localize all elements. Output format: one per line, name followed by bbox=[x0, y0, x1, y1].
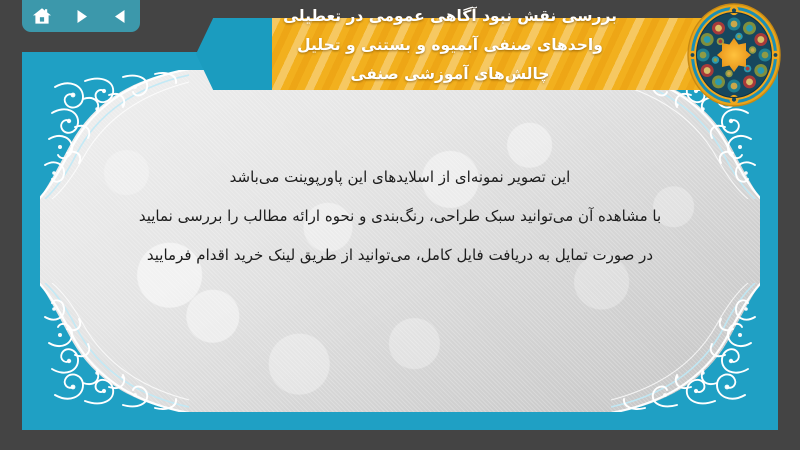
slide-viewer: این تصویر نمونه‌ای از اسلایدهای این پاور… bbox=[0, 0, 800, 450]
body-line-2: با مشاهده آن می‌توانید سبک طراحی، رنگ‌بن… bbox=[80, 197, 720, 236]
slide-frame: این تصویر نمونه‌ای از اسلایدهای این پاور… bbox=[22, 52, 778, 430]
home-icon bbox=[32, 7, 52, 25]
corner-ornament-bottom-right bbox=[611, 283, 760, 412]
forward-arrow-icon bbox=[73, 8, 90, 25]
medallion-ornament bbox=[686, 2, 782, 108]
back-arrow-icon bbox=[112, 8, 129, 25]
back-button[interactable] bbox=[105, 3, 135, 29]
body-line-3: در صورت تمایل به دریافت فایل کامل، می‌تو… bbox=[80, 236, 720, 275]
forward-button[interactable] bbox=[66, 3, 96, 29]
slide-body-text: این تصویر نمونه‌ای از اسلایدهای این پاور… bbox=[80, 158, 720, 275]
corner-ornament-bottom-left bbox=[40, 283, 189, 412]
body-line-1: این تصویر نمونه‌ای از اسلایدهای این پاور… bbox=[80, 158, 720, 197]
slide-content-panel: این تصویر نمونه‌ای از اسلایدهای این پاور… bbox=[40, 70, 760, 412]
home-button[interactable] bbox=[27, 3, 57, 29]
navigation-bar bbox=[22, 0, 140, 32]
